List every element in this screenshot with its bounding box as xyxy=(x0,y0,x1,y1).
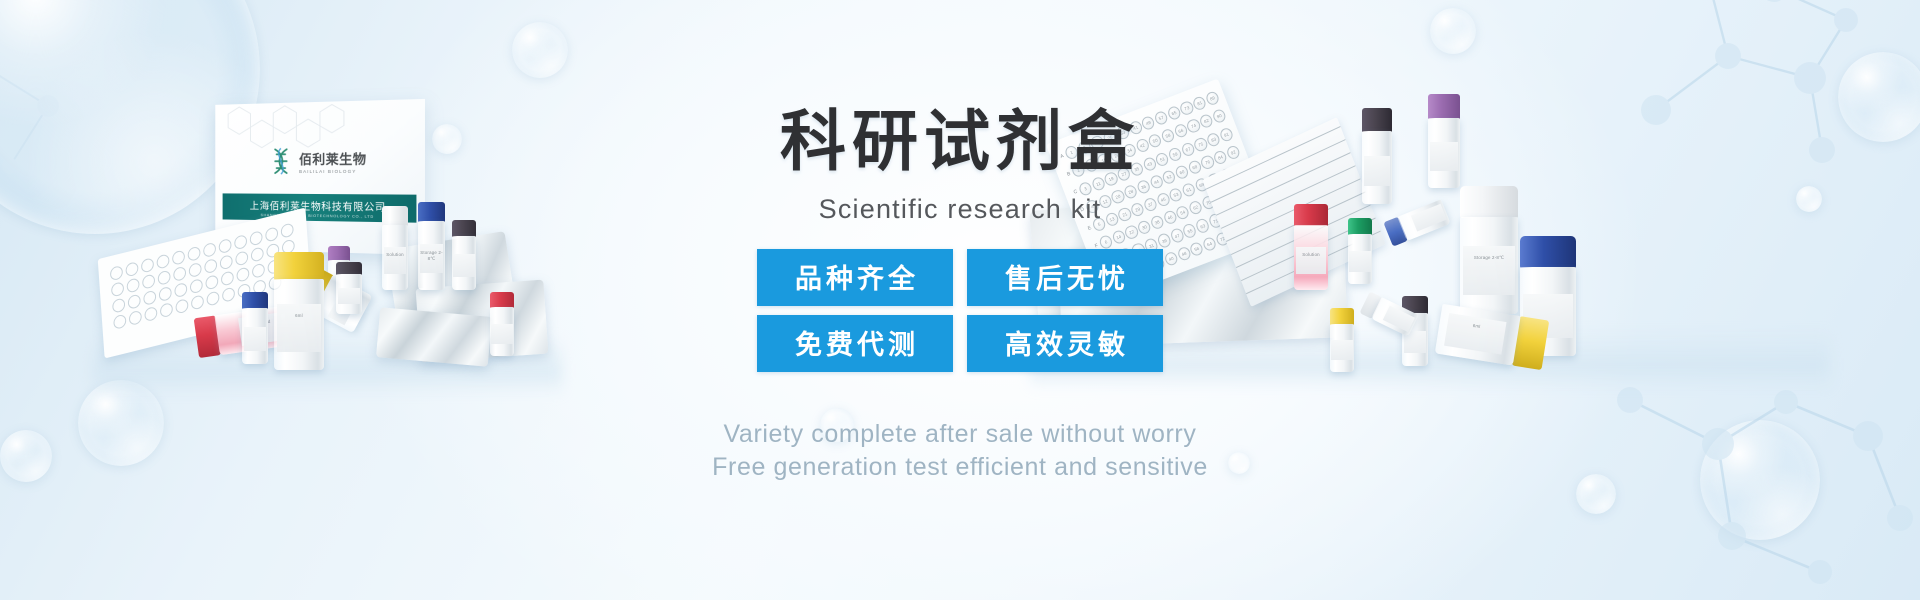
banner-tagline: Variety complete after sale without worr… xyxy=(712,418,1208,483)
feature-badge-grid: 品种齐全 售后无忧 免费代测 高效灵敏 xyxy=(757,249,1163,372)
banner-text-block: 科研试剂盒 Scientific research kit 品种齐全 售后无忧 … xyxy=(0,0,1920,600)
feature-badge[interactable]: 免费代测 xyxy=(757,315,953,372)
tagline-line-1: Variety complete after sale without worr… xyxy=(712,418,1208,451)
feature-badge[interactable]: 品种齐全 xyxy=(757,249,953,306)
banner-subtitle: Scientific research kit xyxy=(819,194,1102,225)
feature-badge[interactable]: 售后无忧 xyxy=(967,249,1163,306)
tagline-line-2: Free generation test efficient and sensi… xyxy=(712,451,1208,484)
promo-banner: 佰利莱生物 BAILILAI BIOLOGY 上海佰利莱生物科技有限公司 SHA… xyxy=(0,0,1920,600)
feature-badge[interactable]: 高效灵敏 xyxy=(967,315,1163,372)
banner-title: 科研试剂盒 xyxy=(780,108,1140,174)
